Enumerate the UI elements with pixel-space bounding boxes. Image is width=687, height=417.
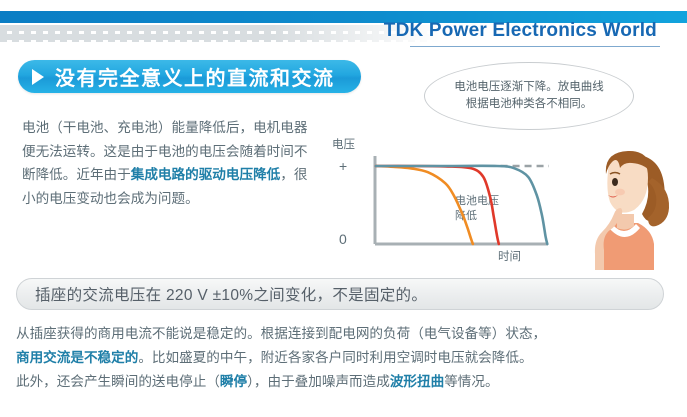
- bottom-line-3: 此外，还会产生瞬间的送电停止（瞬停），由于叠加噪声而造成波形扭曲等情况。: [16, 370, 676, 394]
- section-title-label: 没有完全意义上的直流和交流: [55, 62, 335, 91]
- battery-discharge-chart: 电压 + 0 时间 电池电压降低: [330, 136, 565, 271]
- bottom-line-1: 从插座获得的商用电流不能说是稳定的。根据连接到配电网的负荷（电气设备等）状态，: [16, 322, 676, 346]
- play-triangle-icon: [32, 69, 44, 85]
- bottom-line-2-rest: 。比如盛夏的中午，附近各家各户同时利用空调时电压就会降低。: [138, 350, 532, 365]
- speech-bubble-line-2: 根据电池种类各不相同。: [466, 96, 593, 113]
- bottom-body-paragraph: 从插座获得的商用电流不能说是稳定的。根据连接到配电网的负荷（电气设备等）状态， …: [16, 322, 676, 394]
- bottom-line-2: 商用交流是不稳定的。比如盛夏的中午，附近各家各户同时利用空调时电压就会降低。: [16, 346, 676, 370]
- page-header: TDK Power Electronics World: [0, 0, 687, 52]
- speech-bubble: 电池电压逐渐下降。放电曲线 根据电池种类各不相同。: [424, 62, 634, 130]
- speech-bubble-line-1: 电池电压逐渐下降。放电曲线: [454, 79, 604, 96]
- bottom-line-3-highlight-1: 瞬停: [220, 374, 247, 389]
- bottom-line-3-b: ），由于叠加噪声而造成: [247, 374, 390, 389]
- bottom-line-3-c: 等情况。: [444, 374, 498, 389]
- ac-voltage-callout-text: 插座的交流电压在 220 V ±10%之间变化，不是固定的。: [35, 283, 427, 305]
- section-title-bar: 没有完全意义上的直流和交流: [18, 60, 361, 93]
- bottom-line-3-a: 此外，还会产生瞬间的送电停止（: [16, 374, 220, 389]
- ac-voltage-callout: 插座的交流电压在 220 V ±10%之间变化，不是固定的。: [16, 278, 664, 310]
- header-dot-pattern: [0, 25, 440, 42]
- brand-title: TDK Power Electronics World: [384, 20, 657, 42]
- bottom-line-2-highlight: 商用交流是不稳定的: [16, 350, 138, 365]
- bottom-line-3-highlight-2: 波形扭曲: [390, 374, 444, 389]
- header-underline: [410, 46, 660, 47]
- woman-thinking-illustration: [568, 138, 680, 270]
- speech-bubble-tail: [596, 124, 611, 132]
- left-body-paragraph: 电池（干电池、充电池）能量降低后，电机电器便无法运转。这是由于电池的电压会随着时…: [22, 116, 312, 210]
- left-body-highlight: 集成电路的驱动电压降低: [131, 167, 281, 182]
- chart-plot-area: [330, 136, 565, 271]
